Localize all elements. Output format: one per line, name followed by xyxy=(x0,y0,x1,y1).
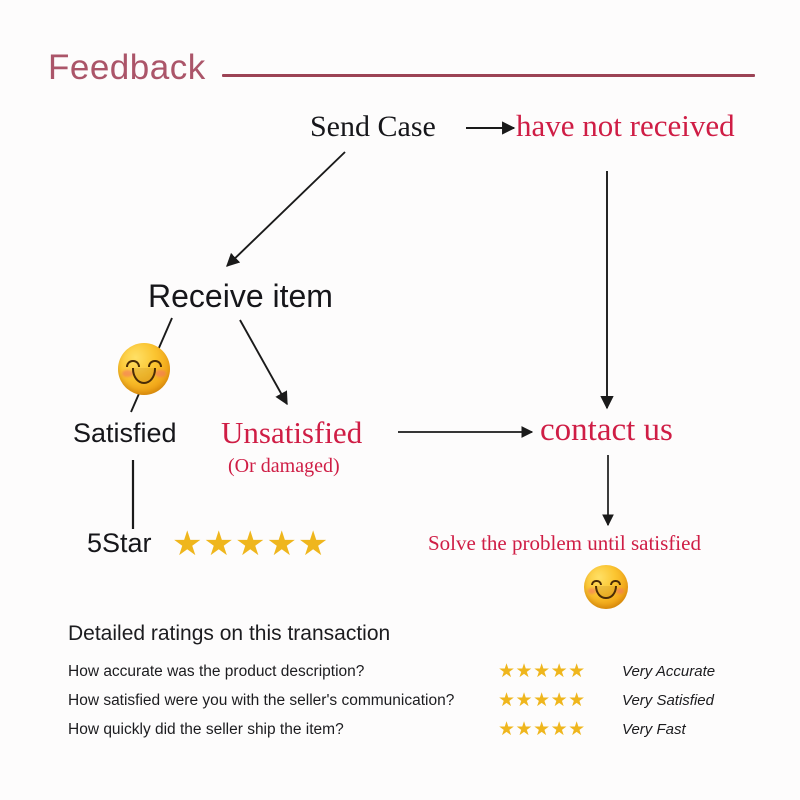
rating-stars-icon: ★★★★★ xyxy=(498,691,622,710)
page-title: Feedback xyxy=(48,48,206,88)
emoji2-eye-right xyxy=(610,580,621,586)
rating-label: Very Accurate xyxy=(622,663,715,680)
emoji2-blush-right xyxy=(616,588,625,594)
emoji2-mouth xyxy=(595,586,616,599)
emoji-blush-right xyxy=(155,370,165,377)
rating-row: How accurate was the product description… xyxy=(68,658,768,685)
arrow-sendcase-to-receive xyxy=(227,152,345,266)
rating-question: How accurate was the product description… xyxy=(68,663,498,681)
rating-stars-icon: ★★★★★ xyxy=(498,720,622,739)
arrow-receive-to-unsatisfied xyxy=(240,320,287,404)
emoji-eye-right xyxy=(148,360,162,367)
detailed-ratings-title: Detailed ratings on this transaction xyxy=(68,622,390,646)
node-send-case: Send Case xyxy=(310,110,436,144)
node-unsatisfied-note: (Or damaged) xyxy=(228,455,340,478)
node-five-star-label: 5Star xyxy=(87,528,152,559)
title-divider xyxy=(222,74,755,77)
rating-row: How satisfied were you with the seller's… xyxy=(68,687,768,714)
node-have-not-received: have not received xyxy=(516,108,735,144)
rating-label: Very Fast xyxy=(622,721,686,738)
smiling-face-icon-2 xyxy=(584,565,628,609)
detailed-ratings-list: How accurate was the product description… xyxy=(68,658,768,745)
node-satisfied: Satisfied xyxy=(73,418,177,449)
node-solve-until-satisfied: Solve the problem until satisfied xyxy=(428,531,701,556)
rating-label: Very Satisfied xyxy=(622,692,714,709)
rating-stars-icon: ★★★★★ xyxy=(498,662,622,681)
node-receive-item: Receive item xyxy=(148,278,333,315)
rating-row: How quickly did the seller ship the item… xyxy=(68,716,768,743)
node-unsatisfied: Unsatisfied xyxy=(221,415,362,451)
rating-question: How satisfied were you with the seller's… xyxy=(68,692,498,710)
emoji-mouth xyxy=(132,368,157,384)
emoji-blush-left xyxy=(122,370,132,377)
emoji2-eye-left xyxy=(591,580,602,586)
emoji-eye-left xyxy=(126,360,140,367)
smiling-face-icon xyxy=(118,343,170,395)
feedback-flow-page: Feedback Send Case have not received Rec… xyxy=(0,0,800,800)
node-contact-us: contact us xyxy=(540,412,673,449)
five-star-rating-icons: ★★★★★ xyxy=(172,527,329,561)
rating-question: How quickly did the seller ship the item… xyxy=(68,721,498,739)
